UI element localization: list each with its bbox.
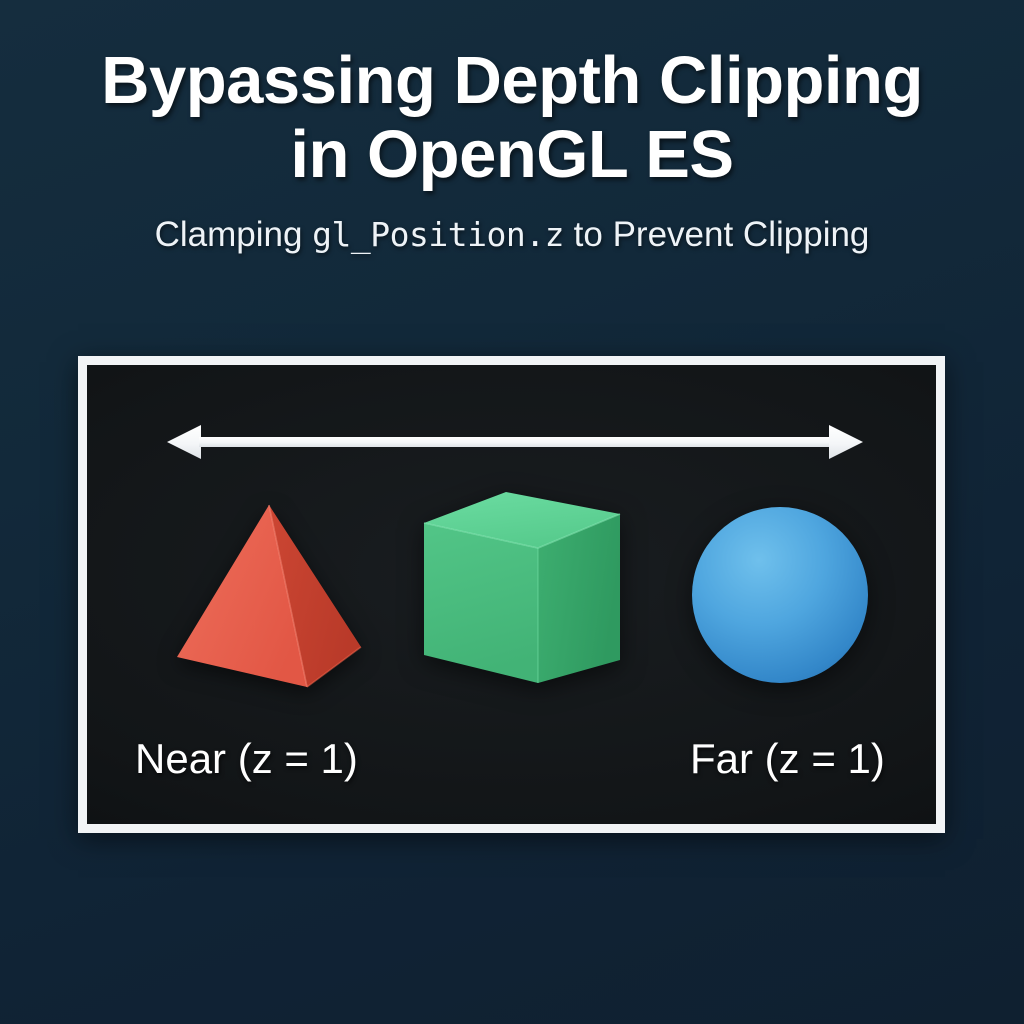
pyramid-shape [167, 497, 367, 697]
header: Bypassing Depth Clipping in OpenGL ES Cl… [0, 44, 1024, 256]
sphere-shape [690, 505, 870, 685]
cube-shape [414, 490, 629, 700]
label-near: Near (z = 1) [135, 735, 358, 783]
diagram-panel-inner: Near (z = 1) Far (z = 1) [87, 365, 936, 824]
diagram-panel: Near (z = 1) Far (z = 1) [78, 356, 945, 833]
label-far: Far (z = 1) [690, 735, 885, 783]
double-headed-depth-arrow [167, 420, 863, 464]
slide-canvas: Bypassing Depth Clipping in OpenGL ES Cl… [0, 0, 1024, 1024]
page-subtitle: Clamping gl_Position.z to Prevent Clippi… [0, 214, 1024, 256]
subtitle-prefix-text: Clamping [155, 215, 313, 254]
page-title-line-2: in OpenGL ES [0, 118, 1024, 192]
subtitle-code-token: gl_Position.z [312, 215, 564, 254]
subtitle-suffix-text: to Prevent Clipping [564, 215, 869, 254]
page-title-line-1: Bypassing Depth Clipping [0, 44, 1024, 118]
